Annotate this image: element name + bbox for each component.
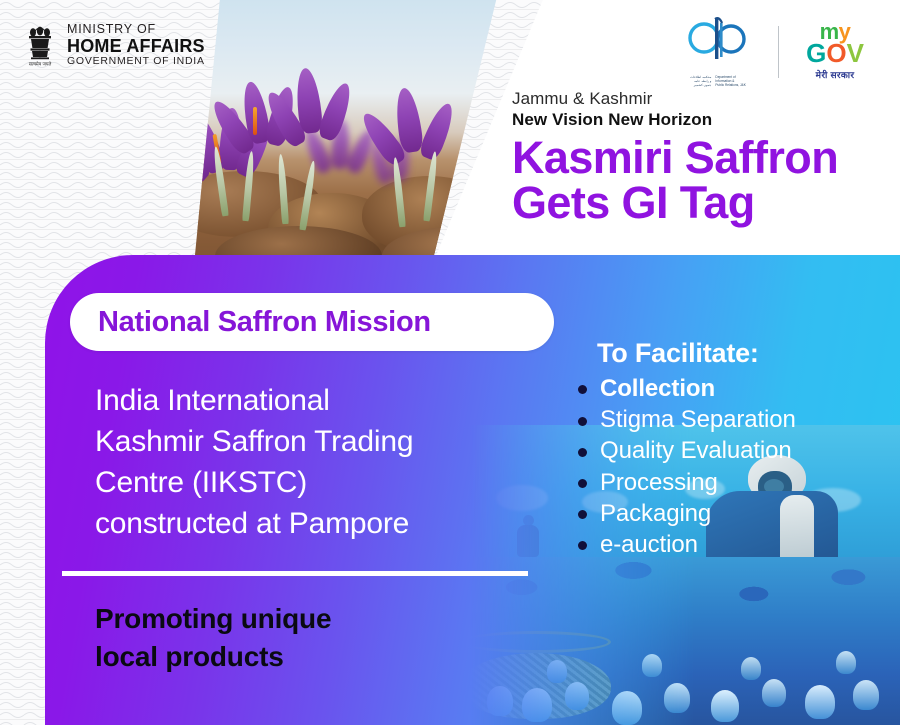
- body-paragraph: India International Kashmir Saffron Trad…: [95, 380, 535, 544]
- body-line-3: Centre (IIKSTC): [95, 462, 535, 503]
- list-item: Packaging: [577, 498, 887, 529]
- headline-subhead: New Vision New Horizon: [512, 109, 838, 131]
- body-line-2: Kashmir Saffron Trading: [95, 421, 535, 462]
- to-facilitate-title: To Facilitate:: [597, 338, 887, 369]
- national-saffron-mission-badge: National Saffron Mission: [70, 293, 554, 351]
- bullet-dot-icon: [578, 479, 587, 488]
- section-divider: [62, 571, 528, 576]
- dip-monogram-icon: [674, 16, 762, 68]
- footer-line-1: Promoting unique: [95, 600, 515, 638]
- ministry-logo-text: MINISTRY OF HOME AFFAIRS GOVERNMENT OF I…: [67, 23, 205, 66]
- list-item: Stigma Separation: [577, 404, 887, 435]
- headline-block: Jammu & Kashmir New Vision New Horizon K…: [512, 88, 838, 225]
- page-title: Kasmiri Saffron Gets GI Tag: [512, 135, 838, 225]
- list-item-label: Packaging: [600, 500, 711, 527]
- bullet-dot-icon: [578, 448, 587, 457]
- headline-eyebrow: Jammu & Kashmir: [512, 88, 838, 109]
- to-facilitate-section: To Facilitate: Collection Stigma Separat…: [577, 338, 887, 560]
- bullet-dot-icon: [578, 417, 587, 426]
- headline-line-2: Gets GI Tag: [512, 180, 838, 225]
- list-item-label: Stigma Separation: [600, 406, 796, 433]
- list-item-label: Quality Evaluation: [600, 437, 792, 464]
- footer-tagline: Promoting unique local products: [95, 600, 515, 676]
- footer-line-2: local products: [95, 638, 515, 676]
- list-item-label: e-auction: [600, 531, 698, 558]
- list-item: Quality Evaluation: [577, 435, 887, 466]
- mygov-gov-text: GOV: [795, 42, 875, 66]
- list-item: Processing: [577, 467, 887, 498]
- partner-logos-row: محکمہ اطلاعات و رابطہ عامہ جموں کشمیر De…: [674, 16, 875, 88]
- ministry-line-1: MINISTRY OF: [67, 23, 205, 36]
- bullet-dot-icon: [578, 385, 587, 394]
- logo-divider: [778, 26, 779, 78]
- headline-line-1: Kasmiri Saffron: [512, 132, 838, 183]
- dip-caption: محکمہ اطلاعات و رابطہ عامہ جموں کشمیر De…: [674, 75, 762, 88]
- mygov-hindi-text: मेरी सरकार: [795, 68, 875, 81]
- mygov-logo: my GOV मेरी सरकार: [795, 22, 875, 81]
- bullet-dot-icon: [578, 510, 587, 519]
- ashoka-lion-capital-emblem-icon: सत्यमेव जयते: [22, 22, 58, 68]
- poster-canvas: सत्यमेव जयते MINISTRY OF HOME AFFAIRS GO…: [0, 0, 900, 725]
- ministry-of-home-affairs-logo: सत्यमेव जयते MINISTRY OF HOME AFFAIRS GO…: [22, 22, 205, 68]
- list-item: e-auction: [577, 529, 887, 560]
- bullet-dot-icon: [578, 541, 587, 550]
- badge-label: National Saffron Mission: [98, 306, 431, 339]
- dip-jk-logo: محکمہ اطلاعات و رابطہ عامہ جموں کشمیر De…: [674, 16, 762, 88]
- body-line-4: constructed at Pampore: [95, 503, 535, 544]
- body-line-1: India International: [95, 380, 535, 421]
- ministry-line-2: HOME AFFAIRS: [67, 37, 205, 56]
- ministry-line-3: GOVERNMENT OF INDIA: [67, 56, 205, 67]
- list-item-label: Processing: [600, 469, 718, 496]
- list-item: Collection: [577, 373, 887, 404]
- to-facilitate-list: Collection Stigma Separation Quality Eva…: [577, 373, 887, 560]
- emblem-motto: सत्यमेव जयते: [29, 61, 52, 67]
- list-item-label: Collection: [600, 375, 715, 402]
